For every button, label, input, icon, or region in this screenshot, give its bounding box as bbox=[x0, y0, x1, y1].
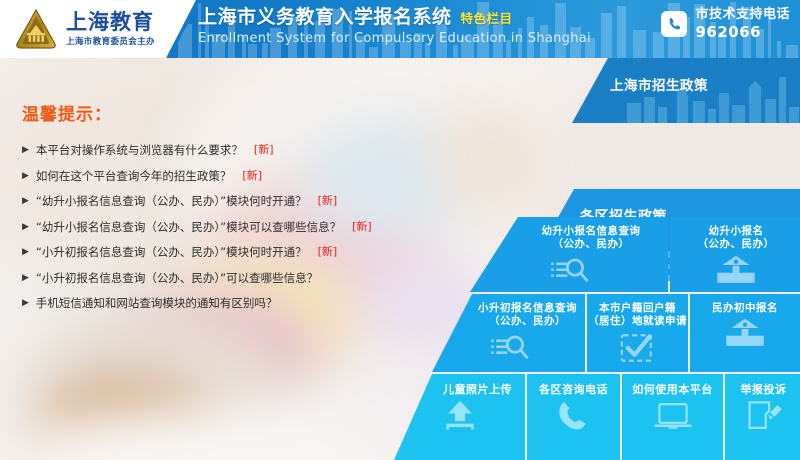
page-title: 上海市义务教育入学报名系统 bbox=[198, 6, 452, 29]
tile-label: 儿童照片上传 bbox=[443, 383, 512, 397]
site-logo[interactable]: 上海教育 上海市教育委员会主办 bbox=[14, 4, 184, 54]
tile-label: 小升初报名信息查询 （公办、民办） bbox=[478, 302, 577, 329]
upload-icon bbox=[437, 399, 483, 433]
tile-school-building[interactable]: 幼升小报名 （公办、民办） bbox=[670, 217, 800, 292]
list-search-icon bbox=[546, 254, 592, 288]
tile-row-4: 小升初报名信息查询 （公办、民办）本市户籍回户籍 （居住）地就读申请民办初中报名 bbox=[432, 294, 800, 372]
support-phone[interactable]: 市技术支持电话 962066 bbox=[661, 7, 790, 41]
tile-label: 上海市招生政策 bbox=[610, 78, 708, 95]
header-title-group: 上海市义务教育入学报名系统 特色栏目 Enrollment System for… bbox=[198, 6, 591, 46]
tile-row-3: 幼升小报名信息查询 （公办、民办）幼升小报名 （公办、民办） bbox=[470, 217, 800, 292]
tile-label: 民办初中报名 bbox=[712, 302, 778, 315]
list-search-icon bbox=[486, 331, 532, 365]
tile-shanghai-policy[interactable]: 上海市招生政策 bbox=[572, 58, 800, 123]
checkbox-check-icon bbox=[615, 331, 661, 365]
site-header: 上海教育 上海市教育委员会主办 上海市义务教育入学报名系统 特色栏目 Enrol… bbox=[0, 0, 800, 58]
phone-label: 市技术支持电话 bbox=[695, 7, 790, 23]
tile-laptop[interactable]: 如何使用本平台 bbox=[622, 374, 723, 460]
tile-label: 本市户籍回户籍 （居住）地就读申请 bbox=[588, 302, 687, 329]
school-building-icon bbox=[722, 317, 768, 351]
tile-pencil-write[interactable]: 举报投诉 bbox=[725, 374, 800, 460]
quick-links-panel: 上海市招生政策 bbox=[0, 58, 800, 460]
tile-list-search[interactable]: 小升初报名信息查询 （公办、民办） bbox=[432, 294, 585, 372]
phone-number: 962066 bbox=[695, 23, 790, 41]
school-building-icon bbox=[713, 254, 759, 288]
logo-main-text: 上海教育 bbox=[66, 11, 155, 33]
page-root: 上海教育 上海市教育委员会主办 上海市义务教育入学报名系统 特色栏目 Enrol… bbox=[0, 0, 800, 460]
tile-school-building[interactable]: 民办初中报名 bbox=[690, 294, 800, 372]
tile-label: 各区咨询电话 bbox=[539, 383, 608, 397]
tile-row-5: 儿童照片上传各区咨询电话如何使用本平台举报投诉 bbox=[394, 374, 800, 460]
tile-label: 如何使用本平台 bbox=[632, 383, 713, 397]
tile-checkbox-check[interactable]: 本市户籍回户籍 （居住）地就读申请 bbox=[587, 294, 688, 372]
phone-icon bbox=[661, 11, 687, 37]
phone-handset-icon bbox=[551, 399, 597, 433]
logo-sub-text: 上海市教育委员会主办 bbox=[66, 35, 155, 47]
tile-label: 举报投诉 bbox=[741, 383, 787, 397]
tile-label: 幼升小报名信息查询 （公办、民办） bbox=[542, 225, 641, 252]
shanghai-education-emblem-icon bbox=[14, 8, 58, 50]
page-title-en: Enrollment System for Compulsory Educati… bbox=[198, 31, 591, 46]
tile-phone-handset[interactable]: 各区咨询电话 bbox=[527, 374, 620, 460]
laptop-icon bbox=[650, 399, 696, 433]
tile-label: 幼升小报名 （公办、民办） bbox=[698, 225, 775, 252]
pencil-write-icon bbox=[741, 399, 787, 433]
feature-badge: 特色栏目 bbox=[461, 11, 513, 26]
tile-list-search[interactable]: 幼升小报名信息查询 （公办、民办） bbox=[470, 217, 668, 292]
tile-upload[interactable]: 儿童照片上传 bbox=[394, 374, 525, 460]
